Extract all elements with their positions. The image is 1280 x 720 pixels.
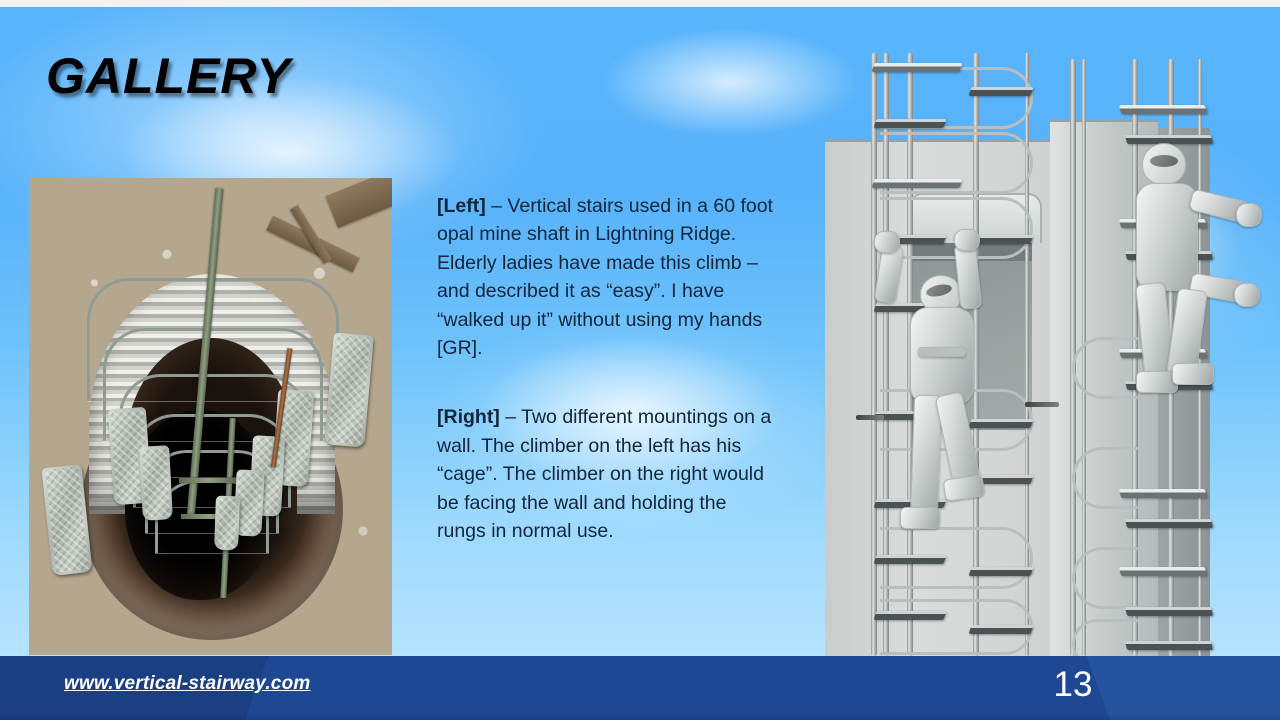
render-wall-bracket-bolt	[1025, 402, 1059, 407]
paragraph-left-lead: [Left]	[437, 195, 486, 217]
slide: GALLERY [Left] – Vertical stairs u	[0, 0, 1280, 720]
climber-left-boot	[900, 507, 940, 529]
body-text-block: [Left] – Vertical stairs used in a 60 fo…	[437, 192, 777, 545]
paragraph-right-lead: [Right]	[437, 406, 500, 428]
climber-right-torso	[1136, 183, 1198, 291]
render-left-step-far	[969, 625, 1034, 634]
render-left-step	[872, 179, 963, 188]
climber-right-boot	[1172, 363, 1214, 385]
render-right-step	[1119, 105, 1207, 114]
paragraph-left: [Left] – Vertical stairs used in a 60 fo…	[437, 192, 777, 362]
render-left-step-far	[969, 87, 1034, 96]
climber-left-harness	[918, 347, 966, 357]
render-left-step-far	[969, 419, 1034, 428]
paragraph-right: [Right] – Two different mountings on a w…	[437, 403, 777, 545]
render-left-step	[874, 555, 947, 564]
render-right-step	[1125, 519, 1213, 528]
website-link[interactable]: www.vertical-stairway.com	[64, 673, 310, 695]
render-right-cage-hoop	[1072, 547, 1147, 609]
render-right-step	[1125, 607, 1213, 616]
footer-bottom-shade	[0, 713, 1280, 720]
page-number: 13	[1043, 665, 1103, 705]
stairway-render	[820, 7, 1280, 656]
photo-ladder-rung	[179, 478, 239, 483]
render-left-step-far	[969, 567, 1034, 576]
render-right-step	[1119, 489, 1207, 498]
render-right-step	[1125, 641, 1213, 650]
render-wall-bracket-bolt	[856, 415, 884, 420]
render-right-cage-hoop	[1072, 447, 1147, 509]
climber-right-hand	[1236, 203, 1262, 227]
render-left-step	[874, 611, 947, 620]
render-right-step	[1119, 567, 1207, 576]
climber-left-hand	[874, 231, 900, 253]
climber-left-hand	[954, 229, 980, 251]
render-left-step	[874, 119, 947, 128]
render-left-step	[872, 63, 963, 72]
render-right-cage-hoop	[1072, 619, 1147, 656]
page-title: GALLERY	[46, 47, 291, 105]
mine-shaft-photo	[29, 178, 392, 655]
top-edge-strip	[0, 0, 1280, 7]
paragraph-left-text: – Vertical stairs used in a 60 foot opal…	[437, 195, 773, 359]
photo-step-tread	[139, 445, 173, 520]
climber-right-visor	[1150, 155, 1178, 167]
render-left-stile-outer-back	[871, 53, 877, 656]
photo-step-tread	[214, 496, 240, 551]
climber-right-hand	[1234, 283, 1260, 307]
